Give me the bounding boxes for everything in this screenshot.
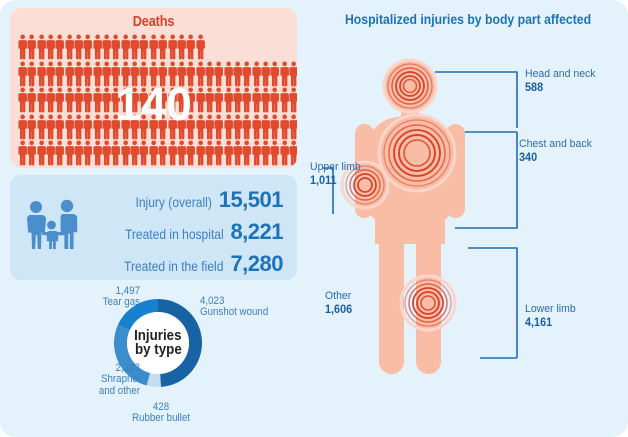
deaths-panel: Deaths 140 — [10, 8, 297, 168]
person-icon — [37, 140, 46, 166]
family-icon — [22, 199, 80, 253]
body-part-label-upper-limb: Upper limb 1,011 — [310, 161, 361, 187]
stat-value: 15,501 — [219, 187, 283, 213]
person-icon — [130, 140, 139, 166]
body-part-value: 340 — [519, 151, 592, 164]
stat-label: Treated in hospital — [125, 227, 224, 242]
deaths-title: Deaths — [27, 14, 280, 30]
body-part-name: Chest and back — [519, 138, 592, 150]
body-part-label-lower-limb: Lower limb 4,161 — [525, 303, 576, 329]
person-icon — [65, 140, 74, 166]
person-icon — [27, 34, 36, 60]
donut-label-shrapnel-name2: and other — [55, 386, 140, 397]
person-icon — [121, 34, 130, 60]
person-icon — [270, 140, 279, 166]
person-icon — [93, 34, 102, 60]
donut-label-shrapnel: 2,273 Shrapnel and other — [55, 363, 140, 397]
person-icon — [46, 34, 55, 60]
stat-value: 8,221 — [230, 219, 283, 245]
body-part-value: 1,011 — [310, 174, 361, 187]
body-part-name: Lower limb — [525, 303, 576, 315]
body-part-label-head-and-neck: Head and neck 588 — [525, 68, 596, 94]
stat-row: Injury (overall) 15,501 — [127, 187, 283, 213]
person-icon — [168, 34, 177, 60]
person-icon — [55, 34, 64, 60]
infographic-canvas: Deaths 140 Injury (overall) 15,501 Treat… — [0, 0, 628, 437]
person-icon — [214, 140, 223, 166]
person-icon — [83, 34, 92, 60]
body-part-label-chest-and-back: Chest and back 340 — [519, 138, 592, 164]
body-part-name: Other — [325, 290, 351, 302]
pictogram-row — [18, 140, 297, 166]
person-icon — [205, 140, 214, 166]
person-icon — [289, 140, 297, 166]
person-icon — [177, 140, 186, 166]
person-icon — [149, 34, 158, 60]
donut-label-rubber-bullet: 428 Rubber bullet — [112, 402, 210, 425]
person-icon — [65, 34, 74, 60]
person-icon — [233, 140, 242, 166]
stat-row: Treated in hospital 8,221 — [114, 219, 283, 245]
stat-label: Treated in the field — [124, 259, 223, 274]
body-part-value: 588 — [525, 81, 596, 94]
body-part-value: 4,161 — [525, 316, 576, 329]
person-icon — [186, 34, 195, 60]
body-part-name: Head and neck — [525, 68, 596, 80]
person-icon — [18, 34, 27, 60]
person-icon — [158, 140, 167, 166]
person-icon — [261, 140, 270, 166]
donut-label-teargas-name: Tear gas — [68, 297, 140, 308]
stat-label: Injury (overall) — [135, 195, 211, 210]
person-icon — [242, 140, 251, 166]
person-icon — [130, 34, 139, 60]
person-icon — [252, 140, 261, 166]
body-silhouette — [355, 59, 465, 374]
person-icon — [149, 140, 158, 166]
person-icon — [158, 34, 167, 60]
person-icon — [121, 140, 130, 166]
person-icon — [280, 140, 289, 166]
person-icon — [102, 140, 111, 166]
person-icon — [102, 34, 111, 60]
person-icon — [139, 140, 148, 166]
person-icon — [111, 34, 120, 60]
person-icon — [18, 140, 27, 166]
body-part-value: 1,606 — [325, 303, 352, 316]
person-icon — [74, 34, 83, 60]
person-icon — [74, 140, 83, 166]
person-icon — [139, 34, 148, 60]
person-icon — [196, 34, 205, 60]
donut-center-line-2: by type — [135, 343, 182, 357]
person-icon — [83, 140, 92, 166]
pictogram-row — [18, 34, 205, 60]
body-part-label-other: Other 1,606 — [325, 290, 352, 316]
person-icon — [186, 140, 195, 166]
person-icon — [37, 34, 46, 60]
person-icon — [177, 34, 186, 60]
person-icon — [168, 140, 177, 166]
stat-value: 7,280 — [230, 251, 283, 277]
person-icon — [55, 140, 64, 166]
body-chart-title: Hospitalized injuries by body part affec… — [327, 12, 610, 27]
person-icon — [27, 140, 36, 166]
donut-label-teargas: 1,497 Tear gas — [68, 286, 140, 309]
injury-stats-panel: Injury (overall) 15,501 Treated in hospi… — [10, 175, 297, 280]
donut-label-rubber-name: Rubber bullet — [112, 413, 210, 424]
donut-label-gunshot-name: Gunshot wound — [200, 307, 268, 318]
deaths-total-value: 140 — [10, 81, 297, 127]
person-icon — [196, 140, 205, 166]
stat-row: Treated in the field 7,280 — [113, 251, 283, 277]
person-icon — [46, 140, 55, 166]
person-icon — [93, 140, 102, 166]
body-part-name: Upper limb — [310, 161, 361, 173]
donut-center-line-1: Injuries — [134, 329, 181, 343]
person-icon — [111, 140, 120, 166]
donut-label-gunshot: 4,023 Gunshot wound — [200, 296, 268, 319]
person-icon — [224, 140, 233, 166]
